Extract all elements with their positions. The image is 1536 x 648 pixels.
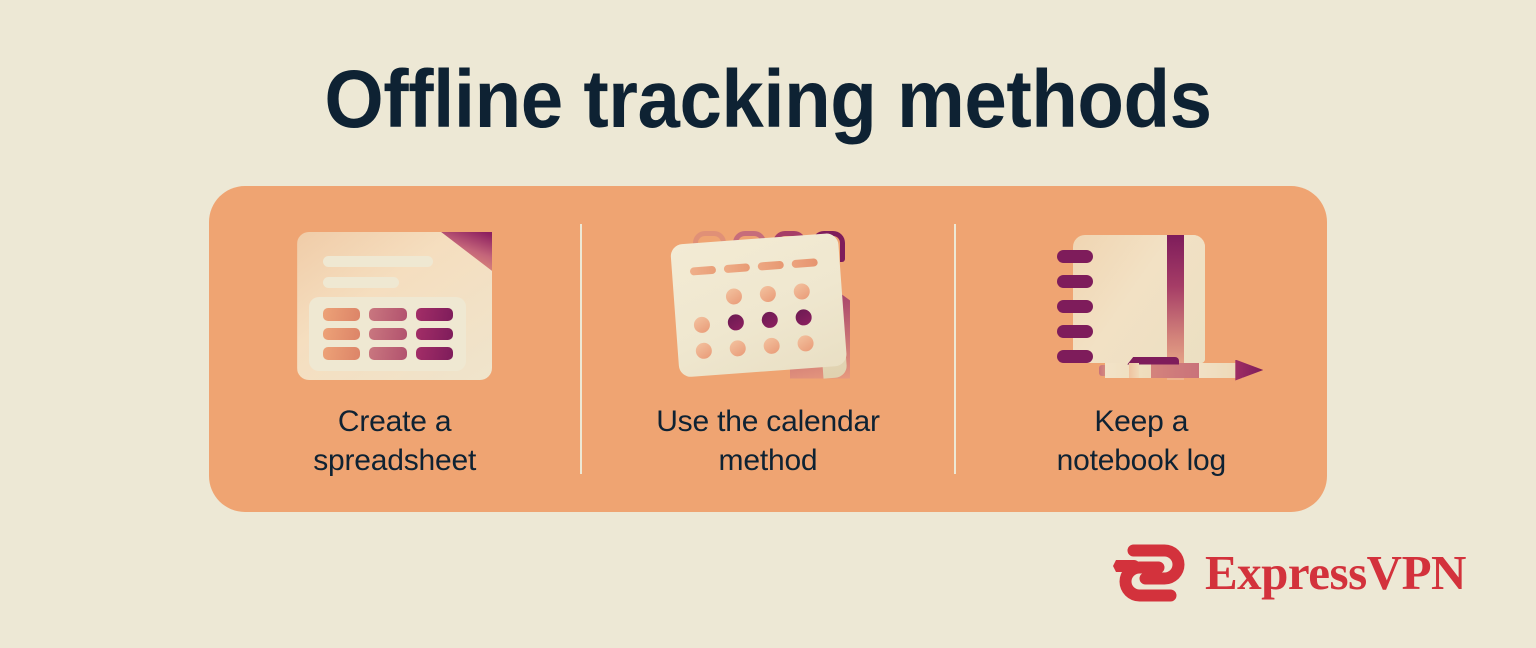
- spreadsheet-grid-panel: [309, 297, 466, 371]
- spreadsheet-icon-container: [297, 220, 492, 392]
- calendar-day-dot-marked: [727, 313, 744, 330]
- pencil-body-segment: [1151, 363, 1199, 378]
- notebook-binding-tab: [1057, 250, 1093, 263]
- calendar-icon-container: [664, 220, 872, 392]
- expressvpn-wordmark: ExpressVPN: [1205, 545, 1466, 601]
- method-caption-calendar: Use the calendar method: [656, 402, 880, 480]
- calendar-day-dot: [725, 287, 742, 304]
- notebook-icon-container: [1041, 220, 1241, 392]
- pencil-body-segment: [1105, 363, 1151, 378]
- pencil-ferrule: [1129, 363, 1139, 378]
- document-header-line-1: [323, 256, 433, 267]
- document-header-line-2: [323, 277, 399, 288]
- spreadsheet-document-icon: [297, 232, 492, 380]
- method-column-notebook: Keep a notebook log: [956, 186, 1327, 512]
- spreadsheet-cell: [369, 347, 406, 360]
- spreadsheet-cell-grid: [323, 308, 453, 360]
- calendar-day-dot: [759, 285, 776, 302]
- expressvpn-logo: ExpressVPN: [1113, 537, 1443, 609]
- spreadsheet-cell: [416, 308, 453, 321]
- spreadsheet-cell: [369, 328, 406, 341]
- spreadsheet-cell: [323, 308, 360, 321]
- method-caption-spreadsheet: Create a spreadsheet: [313, 402, 476, 480]
- calendar-weekday-dash: [724, 263, 751, 273]
- calendar-day-dot: [763, 337, 780, 354]
- spreadsheet-cell: [416, 347, 453, 360]
- spreadsheet-cell: [369, 308, 406, 321]
- calendar-weekday-dash: [690, 265, 717, 275]
- notebook-binding-tab: [1057, 325, 1093, 338]
- pencil-icon: [1099, 357, 1247, 381]
- calendar-page-contents: [670, 232, 847, 377]
- spreadsheet-cell: [416, 328, 453, 341]
- method-caption-notebook: Keep a notebook log: [1057, 402, 1226, 480]
- expressvpn-e-mark-icon: [1113, 543, 1191, 603]
- page-title: Offline tracking methods: [54, 52, 1482, 148]
- notebook-binding-tab: [1057, 300, 1093, 313]
- method-column-calendar: Use the calendar method: [582, 186, 953, 512]
- calendar-day-dot: [793, 282, 810, 299]
- calendar-day-dot: [693, 316, 710, 333]
- notebook-cover: [1073, 235, 1205, 363]
- notebook-with-pencil-icon: [1041, 229, 1241, 384]
- pencil-tip: [1235, 360, 1263, 381]
- calendar-day-dot-marked: [795, 308, 812, 325]
- calendar-day-dot-marked: [761, 311, 778, 328]
- calendar-day-dot: [797, 334, 814, 351]
- spreadsheet-cell: [323, 347, 360, 360]
- calendar-weekday-dash: [758, 260, 785, 270]
- desk-calendar-icon: [664, 229, 872, 384]
- notebook-binding-tab: [1057, 275, 1093, 288]
- spreadsheet-cell: [323, 328, 360, 341]
- calendar-day-dot: [729, 339, 746, 356]
- methods-card: Create a spreadsheet: [209, 186, 1327, 512]
- method-column-spreadsheet: Create a spreadsheet: [209, 186, 580, 512]
- calendar-day-dot: [695, 342, 712, 359]
- calendar-weekday-dash: [791, 258, 818, 268]
- notebook-binding-tab: [1057, 350, 1093, 363]
